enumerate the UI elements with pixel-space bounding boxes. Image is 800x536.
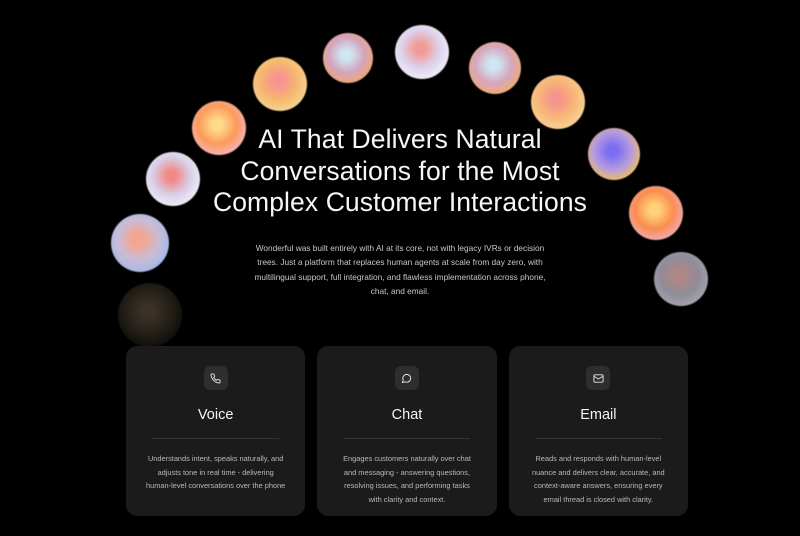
channel-card-voice[interactable]: Voice Understands intent, speaks natural…: [126, 346, 305, 516]
card-description: Engages customers naturally over chat an…: [333, 452, 480, 506]
orb-amber-rose: [253, 57, 307, 111]
orb-peach-soft: [531, 75, 585, 129]
card-title: Voice: [198, 407, 233, 424]
orb-skyblue-ring: [469, 42, 521, 94]
envelope-icon: [586, 366, 610, 390]
card-divider: [344, 438, 471, 439]
page-title: AI That Delivers Natural Conversations f…: [0, 124, 800, 219]
card-title: Chat: [392, 407, 423, 424]
hero-content: AI That Delivers Natural Conversations f…: [0, 124, 800, 299]
channel-card-email[interactable]: Email Reads and responds with human-leve…: [509, 346, 688, 516]
phone-icon: [204, 366, 228, 390]
orb-skyblue-core: [323, 33, 373, 83]
card-description: Reads and responds with human-level nuan…: [525, 452, 672, 506]
channel-card-list: Voice Understands intent, speaks natural…: [126, 346, 688, 516]
channel-card-chat[interactable]: Chat Engages customers naturally over ch…: [317, 346, 496, 516]
card-divider: [535, 438, 662, 439]
card-description: Understands intent, speaks naturally, an…: [142, 452, 289, 493]
orb-pale-pink: [395, 25, 449, 79]
card-divider: [152, 438, 279, 439]
hero-page: AI That Delivers Natural Conversations f…: [0, 0, 800, 536]
chat-bubble-icon: [395, 366, 419, 390]
hero-subtitle: Wonderful was built entirely with AI at …: [0, 241, 800, 299]
card-title: Email: [580, 407, 616, 424]
